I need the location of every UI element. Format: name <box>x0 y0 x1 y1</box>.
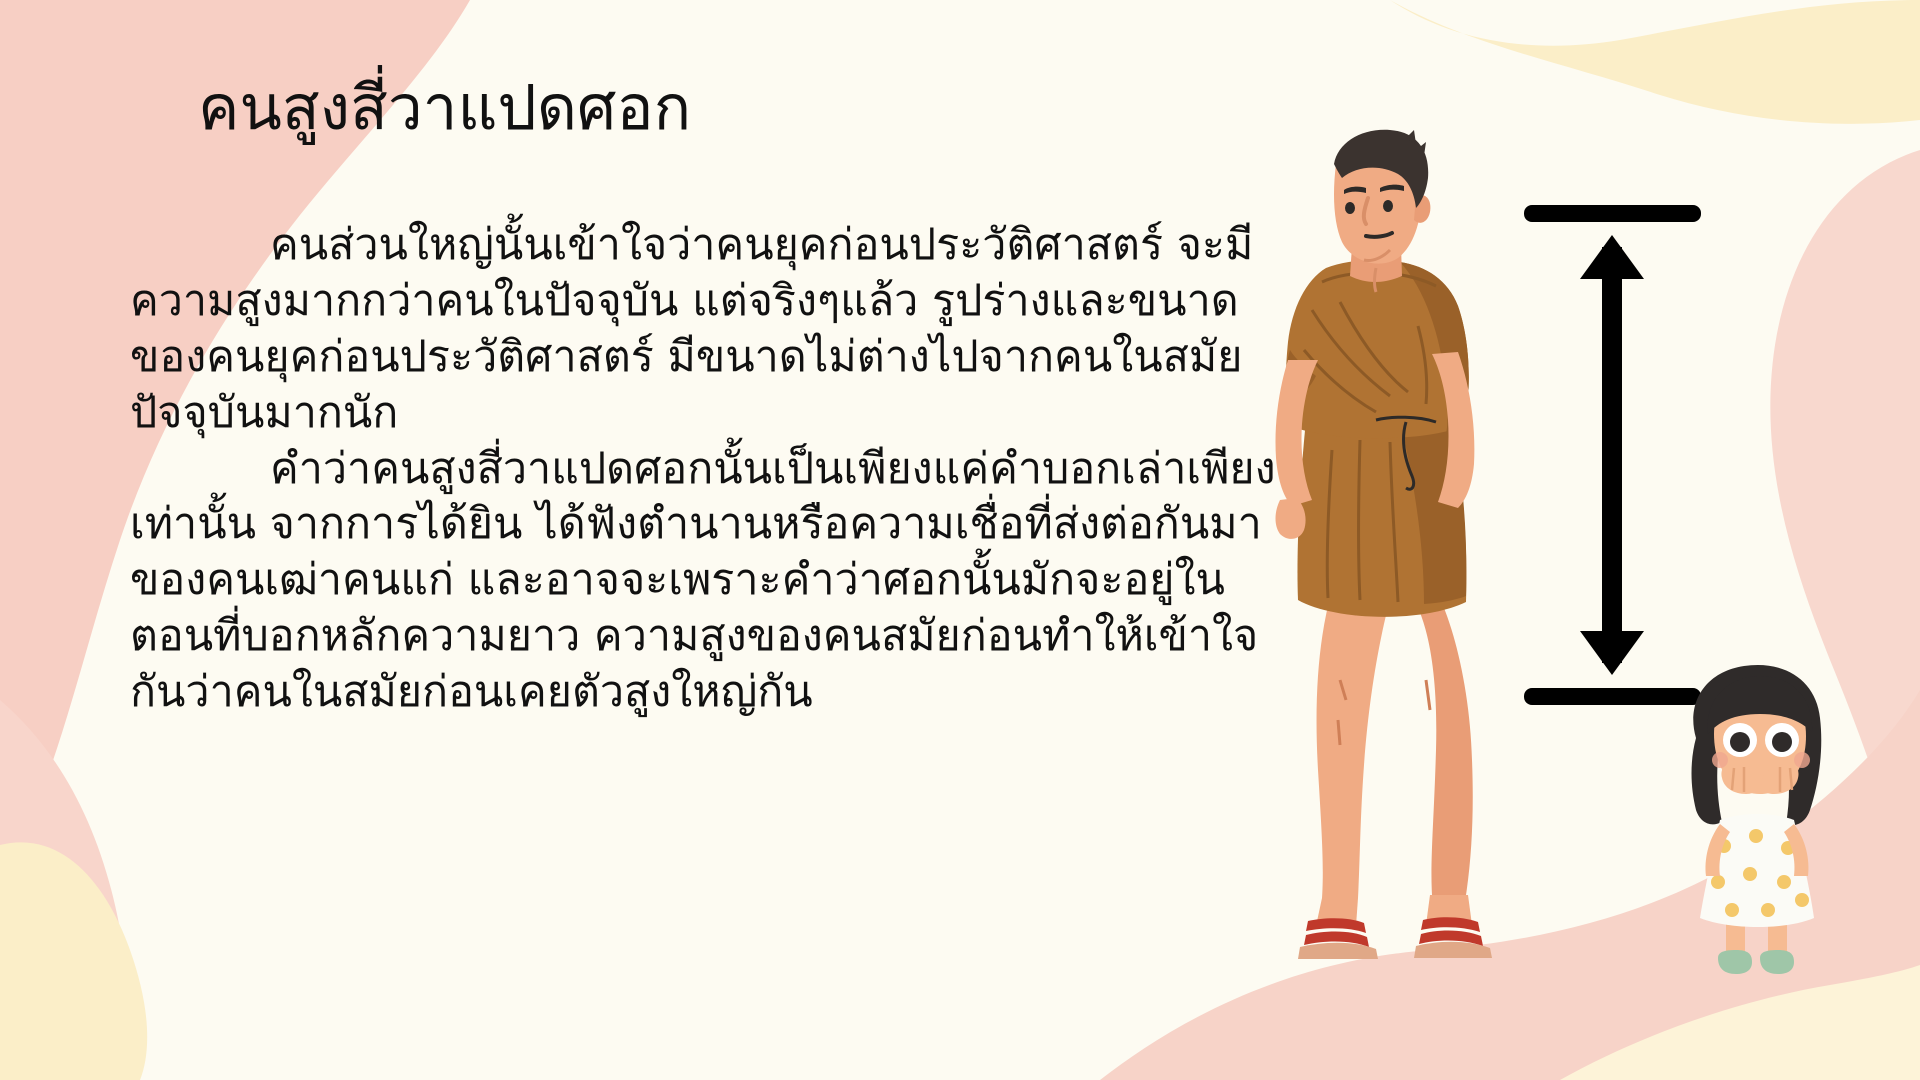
blob-cream-top-right <box>1390 0 1920 124</box>
man-eye-right <box>1383 200 1393 212</box>
illustration-prehistoric-man <box>1240 120 1540 990</box>
page-title: คนสูงสี่วาแปดศอก <box>198 74 691 142</box>
man-sandal-front <box>1298 898 1378 959</box>
paragraph-2: คำว่าคนสูงสี่วาแปดศอกนั้นเป็นเพียงแค่คำบ… <box>130 442 1290 721</box>
girl-pupil-left <box>1730 732 1750 752</box>
arrow-shaft <box>1602 247 1622 663</box>
girl-cheek-left <box>1712 752 1728 768</box>
girl-cheek-right <box>1794 752 1810 768</box>
body-text-block: คนส่วนใหญ่นั้นเข้าใจว่าคนยุคก่อนประวัติศ… <box>130 218 1290 721</box>
girl-pupil-right <box>1772 732 1792 752</box>
man-sandal-back <box>1414 895 1492 958</box>
paragraph-1: คนส่วนใหญ่นั้นเข้าใจว่าคนยุคก่อนประวัติศ… <box>130 218 1290 442</box>
man-leg-front <box>1317 590 1392 898</box>
arrow-head-down <box>1580 631 1644 675</box>
man-leg-back <box>1408 590 1473 895</box>
blob-cream-bottom-left <box>0 842 147 1080</box>
blob-pink-left-lower <box>0 700 128 1080</box>
arrow-top-cap <box>1524 205 1701 222</box>
man-eye-left <box>1345 202 1355 214</box>
arrow-head-up <box>1580 235 1644 279</box>
man-hand-left <box>1276 498 1306 539</box>
illustration-small-girl <box>1660 660 1855 990</box>
slide-canvas: คนสูงสี่วาแปดศอก คนส่วนใหญ่นั้นเข้าใจว่า… <box>0 0 1920 1080</box>
girl-shoe-right <box>1760 950 1794 974</box>
height-measure-arrow <box>1520 205 1705 705</box>
girl-shoe-left <box>1718 950 1752 974</box>
